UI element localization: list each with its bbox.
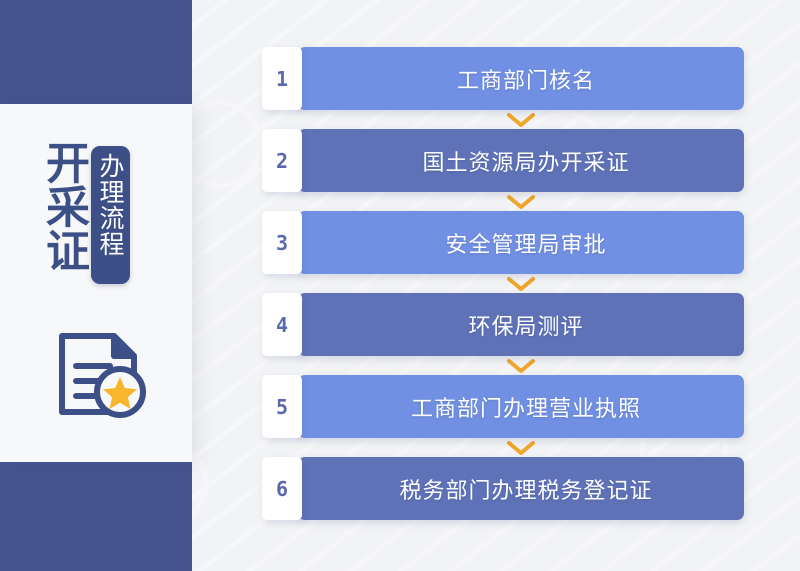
step-label: 税务部门办理税务登记证 bbox=[389, 473, 652, 505]
step-bar[interactable]: 工商部门核名 bbox=[298, 47, 744, 110]
flow-step-4[interactable]: 4 环保局测评 bbox=[262, 293, 744, 356]
flow-connector bbox=[262, 438, 744, 457]
step-bar[interactable]: 工商部门办理营业执照 bbox=[298, 375, 744, 438]
chevron-down-icon bbox=[506, 112, 536, 128]
step-label: 国土资源局办开采证 bbox=[412, 145, 629, 177]
subtitle-badge-label: 办理流程 bbox=[95, 153, 126, 277]
step-number-badge: 3 bbox=[262, 211, 302, 274]
flow-connector bbox=[262, 192, 744, 211]
page-title: 开采证 bbox=[38, 140, 88, 296]
flow-step-3[interactable]: 3 安全管理局审批 bbox=[262, 211, 744, 274]
infographic-canvas: 开采证 办理流程 1 bbox=[0, 0, 800, 571]
step-label: 环保局测评 bbox=[458, 309, 583, 341]
chevron-down-icon bbox=[506, 358, 536, 374]
flow-step-5[interactable]: 5 工商部门办理营业执照 bbox=[262, 375, 744, 438]
step-label: 工商部门办理营业执照 bbox=[401, 391, 641, 423]
step-bar[interactable]: 国土资源局办开采证 bbox=[298, 129, 744, 192]
step-number-badge: 4 bbox=[262, 293, 302, 356]
flow-step-2[interactable]: 2 国土资源局办开采证 bbox=[262, 129, 744, 192]
step-number-badge: 5 bbox=[262, 375, 302, 438]
flow-connector bbox=[262, 110, 744, 129]
step-number-badge: 6 bbox=[262, 457, 302, 520]
step-number-badge: 1 bbox=[262, 47, 302, 110]
flow-step-6[interactable]: 6 税务部门办理税务登记证 bbox=[262, 457, 744, 520]
flow-connector bbox=[262, 356, 744, 375]
brand-block: 开采证 办理流程 bbox=[38, 140, 130, 296]
step-label: 工商部门核名 bbox=[447, 63, 595, 95]
left-panel-bottom-band bbox=[0, 462, 192, 571]
subtitle-badge: 办理流程 bbox=[91, 146, 130, 284]
step-bar[interactable]: 税务部门办理税务登记证 bbox=[298, 457, 744, 520]
chevron-down-icon bbox=[506, 276, 536, 292]
flow-step-1[interactable]: 1 工商部门核名 bbox=[262, 47, 744, 110]
left-panel-top-band bbox=[0, 0, 192, 104]
step-label: 安全管理局审批 bbox=[435, 227, 606, 259]
certificate-document-star-icon bbox=[52, 326, 148, 427]
step-bar[interactable]: 环保局测评 bbox=[298, 293, 744, 356]
chevron-down-icon bbox=[506, 440, 536, 456]
process-flow-list: 1 工商部门核名 2 国土资源局办开采证 3 安全管理局审批 bbox=[262, 47, 744, 520]
flow-connector bbox=[262, 274, 744, 293]
chevron-down-icon bbox=[506, 194, 536, 210]
left-title-card: 开采证 办理流程 bbox=[0, 104, 192, 462]
step-number-badge: 2 bbox=[262, 129, 302, 192]
step-bar[interactable]: 安全管理局审批 bbox=[298, 211, 744, 274]
